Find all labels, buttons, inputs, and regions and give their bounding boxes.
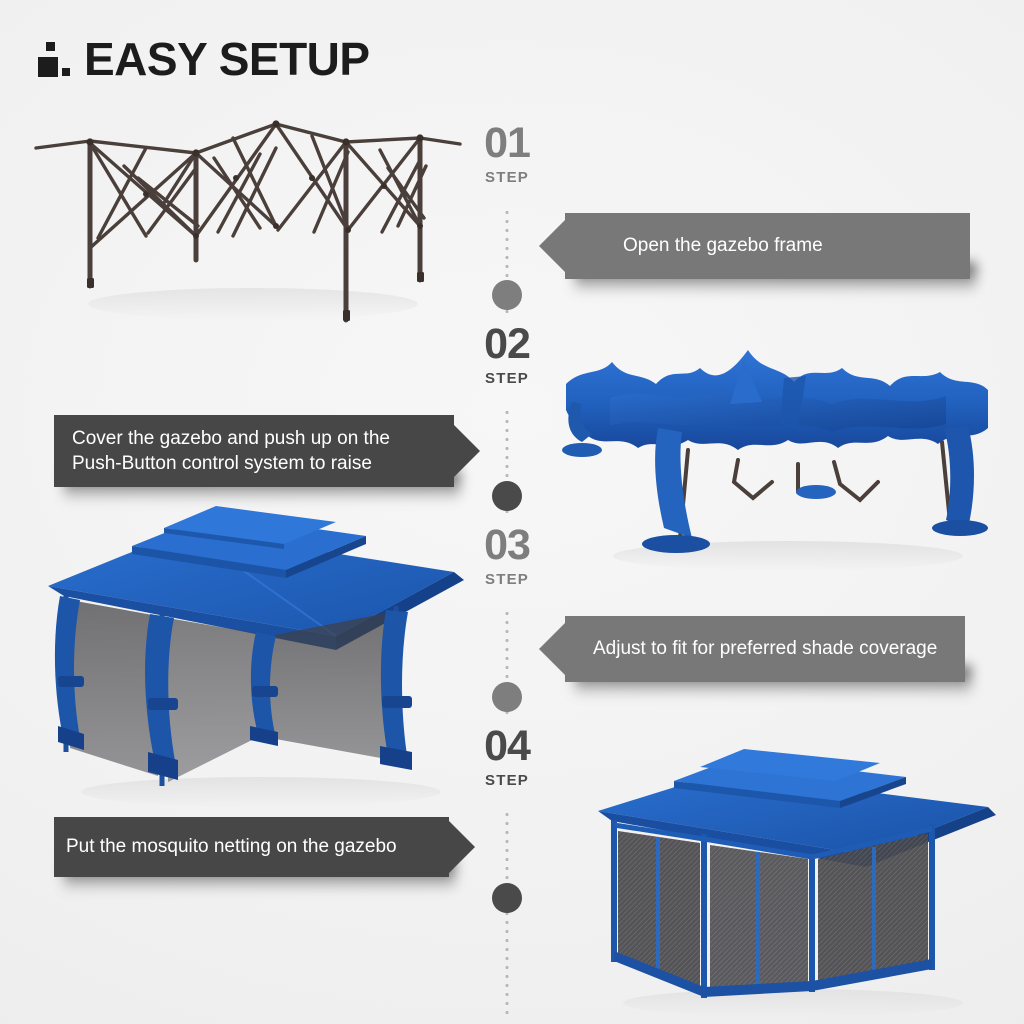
- step-callout-text-line2: Push-Button control system to raise: [72, 451, 390, 476]
- callout-arrow-left-icon: [539, 623, 565, 675]
- step-word: STEP: [452, 773, 562, 788]
- gazebo-assembled-photo: [36, 500, 466, 812]
- step-callout-text-line1: Cover the gazebo and push up on the: [72, 426, 390, 451]
- callout-arrow-right-icon: [449, 821, 475, 873]
- step-number: 01: [452, 122, 562, 165]
- gazebo-frame-open-photo: [28, 108, 468, 338]
- step-word: STEP: [452, 170, 562, 185]
- step-word: STEP: [452, 371, 562, 386]
- step-node-04: [492, 883, 522, 913]
- title-text: EASY SETUP: [84, 36, 370, 84]
- step-callout-03: Adjust to fit for preferred shade covera…: [565, 616, 965, 682]
- step-number: 04: [452, 725, 562, 768]
- step-callout-text: Adjust to fit for preferred shade covera…: [593, 636, 937, 661]
- step-node-01: [492, 280, 522, 310]
- step-callout-01: Open the gazebo frame: [565, 213, 970, 279]
- step-label-01: 01 STEP: [452, 122, 562, 185]
- step-number: 02: [452, 323, 562, 366]
- step-callout-text: Open the gazebo frame: [623, 233, 823, 258]
- step-label-02: 02 STEP: [452, 323, 562, 386]
- step-callout-04: Put the mosquito netting on the gazebo: [54, 817, 449, 877]
- step-label-04: 04 STEP: [452, 725, 562, 788]
- callout-arrow-left-icon: [539, 220, 565, 272]
- steps-timeline: 01 STEP 02 STEP 03 STEP 04 STEP: [505, 96, 509, 1024]
- gazebo-with-netting-photo: [588, 745, 998, 1020]
- step-node-02: [492, 481, 522, 511]
- step-number: 03: [452, 524, 562, 567]
- step-callout-02: Cover the gazebo and push up on the Push…: [54, 415, 454, 487]
- page-title: EASY SETUP: [36, 36, 370, 84]
- gazebo-canopy-draped-photo: [548, 332, 998, 582]
- step-word: STEP: [452, 572, 562, 587]
- three-squares-icon: [36, 40, 70, 84]
- easy-setup-infographic: EASY SETUP 01 STEP 02 STEP 03 STEP 04 ST…: [0, 0, 1024, 1024]
- step-node-03: [492, 682, 522, 712]
- step-callout-text: Put the mosquito netting on the gazebo: [66, 834, 397, 859]
- step-label-03: 03 STEP: [452, 524, 562, 587]
- callout-arrow-right-icon: [454, 425, 480, 477]
